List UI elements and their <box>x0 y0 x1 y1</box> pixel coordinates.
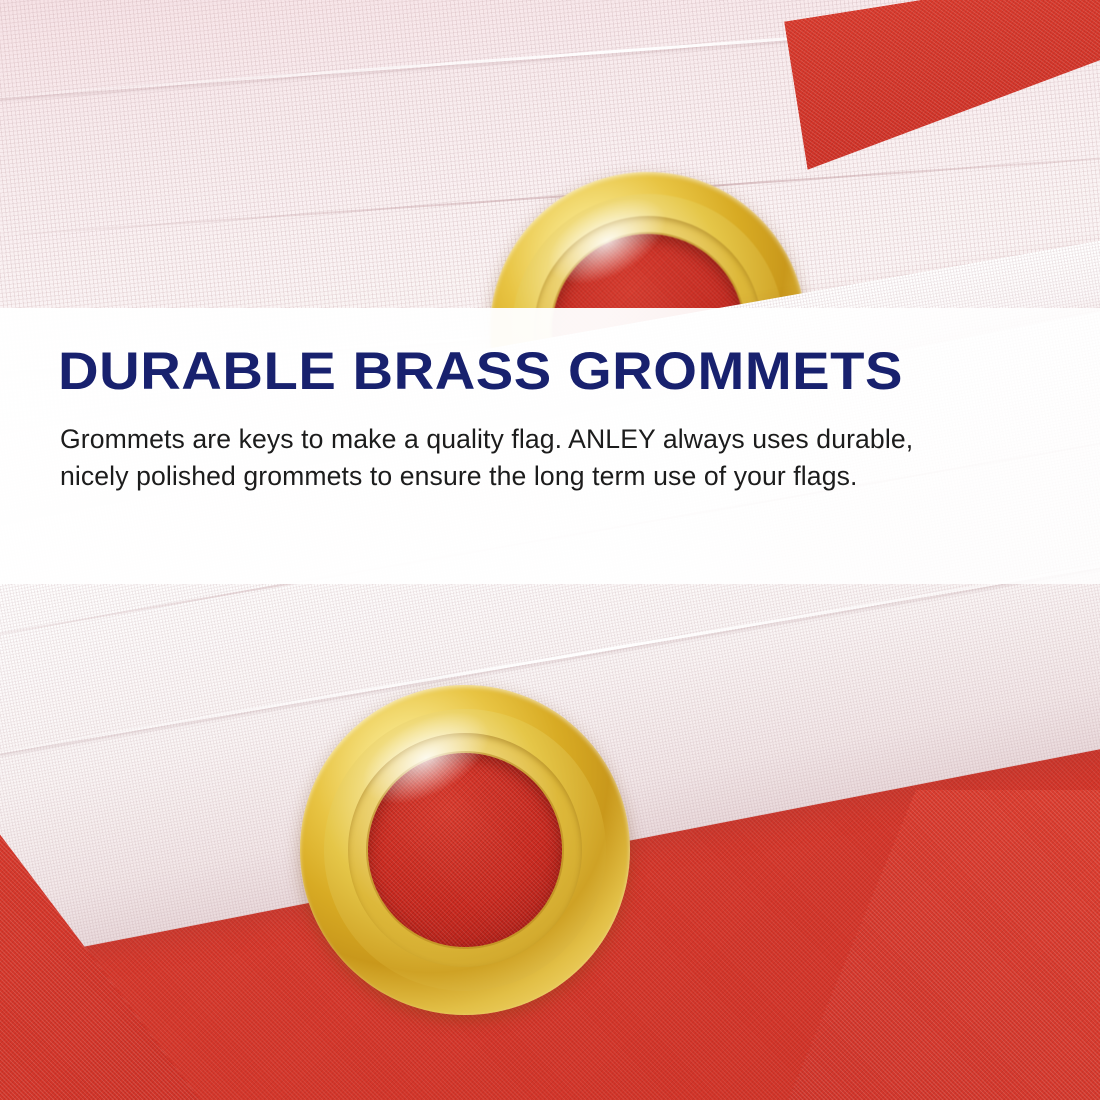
marketing-text-banner: DURABLE BRASS GROMMETS Grommets are keys… <box>0 308 1100 584</box>
headline: DURABLE BRASS GROMMETS <box>58 344 1099 399</box>
body-copy: Grommets are keys to make a quality flag… <box>60 421 976 494</box>
product-image: DURABLE BRASS GROMMETS Grommets are keys… <box>0 0 1100 1100</box>
grommet-hole <box>368 753 562 947</box>
brass-grommet-bottom <box>300 685 630 1015</box>
